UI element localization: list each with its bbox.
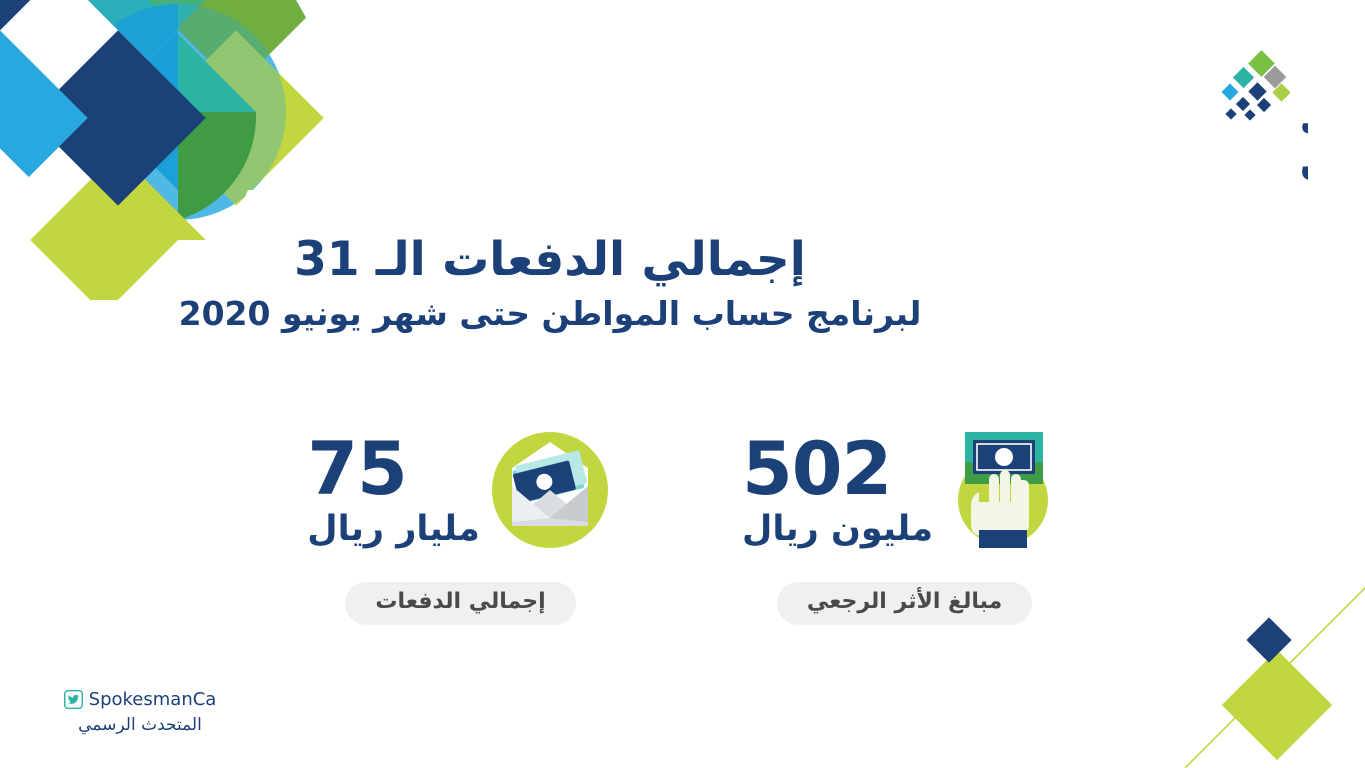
- stat-card-retroactive-amounts: 502 مليون ريال مبالغ الأثر الرجعي: [716, 418, 1094, 625]
- page-subtitle: لبرنامج حساب المواطن حتى شهر يونيو 2020: [0, 293, 1365, 334]
- statistics-row: 75 مليار ريال إجمالي الدفعات: [0, 418, 1365, 625]
- infographic-canvas: حساب المواطن إجمالي الدفعات الـ 31 لبرنا…: [0, 0, 1365, 768]
- stat-texts: 75 مليار ريال: [307, 435, 480, 549]
- stat-top-row: 75 مليار ريال: [307, 418, 614, 566]
- handle-text[interactable]: SpokesmanCa: [89, 691, 217, 709]
- stat-value: 502: [742, 435, 891, 504]
- twitter-bird-icon[interactable]: [64, 690, 83, 709]
- status-badge: إجمالي الدفعات: [345, 582, 575, 625]
- stat-texts: 502 مليون ريال: [742, 435, 933, 549]
- envelope-with-money-icon: [486, 426, 614, 558]
- hand-receiving-cash-icon: [939, 426, 1067, 558]
- spokesman-role-label: المتحدث الرسمي: [55, 715, 225, 735]
- logo-text-line1: حساب: [1300, 103, 1308, 143]
- stat-unit: مليار ريال: [307, 509, 480, 549]
- stat-unit: مليون ريال: [742, 509, 933, 549]
- brand-logo: حساب المواطن: [1128, 48, 1308, 183]
- stat-value: 75: [307, 435, 407, 504]
- logo-text-line2: المواطن: [1300, 141, 1308, 181]
- stat-card-total-payments: 75 مليار ريال إجمالي الدفعات: [272, 418, 650, 625]
- page-title: إجمالي الدفعات الـ 31: [0, 232, 1365, 287]
- heading-block: إجمالي الدفعات الـ 31 لبرنامج حساب الموا…: [0, 232, 1365, 335]
- logo-mosaic-icon: [1222, 50, 1291, 121]
- handle-row: SpokesmanCa: [55, 690, 225, 709]
- status-badge: مبالغ الأثر الرجعي: [777, 582, 1032, 625]
- official-spokesman-handle: SpokesmanCa المتحدث الرسمي: [55, 690, 225, 735]
- stat-top-row: 502 مليون ريال: [742, 418, 1067, 566]
